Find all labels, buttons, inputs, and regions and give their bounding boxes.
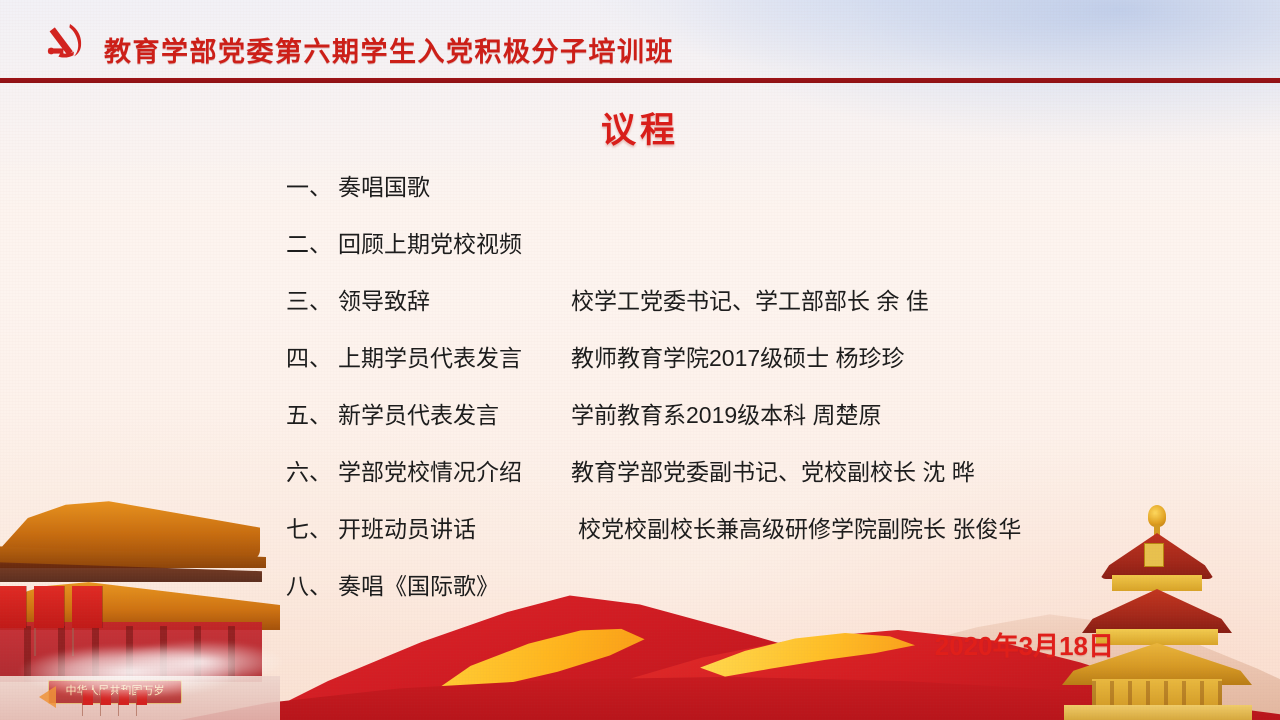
agenda-item-index: 四、 <box>286 339 338 373</box>
presentation-slide: 中华人民共和国万岁 教育学部党委第六期学生入 <box>0 0 1280 720</box>
agenda-item-topic: 奏唱《国际歌》 <box>338 567 588 601</box>
agenda-item-index: 二、 <box>286 225 338 259</box>
agenda-item-index: 八、 <box>286 567 338 601</box>
agenda-item: 二、 回顾上期党校视频 <box>286 225 1186 282</box>
agenda-item-topic: 回顾上期党校视频 <box>338 225 588 259</box>
agenda-item-speaker: 教育学部党委副书记、党校副校长 沈 晔 <box>571 453 975 487</box>
page-title: 教育学部党委第六期学生入党积极分子培训班 <box>104 30 674 69</box>
agenda-item: 六、 学部党校情况介绍 教育学部党委副书记、党校副校长 沈 晔 <box>286 453 1186 510</box>
agenda-item-index: 一、 <box>286 168 338 202</box>
agenda-item-topic: 上期学员代表发言 <box>338 339 571 373</box>
agenda-item-topic: 开班动员讲话 <box>338 510 578 544</box>
slide-date: 2020年3月18日 <box>935 626 1114 663</box>
slide-header: 教育学部党委第六期学生入党积极分子培训班 <box>0 0 1280 78</box>
agenda-item: 五、 新学员代表发言 学前教育系2019级本科 周楚原 <box>286 396 1186 453</box>
agenda-item-topic: 领导致辞 <box>338 282 571 316</box>
agenda-item-index: 三、 <box>286 282 338 316</box>
agenda-item: 三、 领导致辞 校学工党委书记、学工部部长 余 佳 <box>286 282 1186 339</box>
agenda-list: 一、 奏唱国歌 二、 回顾上期党校视频 三、 领导致辞 校学工党委书记、学工部部… <box>286 168 1186 624</box>
agenda-item-index: 五、 <box>286 396 338 430</box>
agenda-item-speaker: 校党校副校长兼高级研修学院副院长 张俊华 <box>578 510 1021 544</box>
agenda-item: 八、 奏唱《国际歌》 <box>286 567 1186 624</box>
agenda-item: 一、 奏唱国歌 <box>286 168 1186 225</box>
agenda-item-topic: 新学员代表发言 <box>338 396 571 430</box>
temple-deck-middle <box>1096 629 1218 645</box>
temple-terrace <box>1064 705 1252 720</box>
play-triangle-overlay[interactable] <box>32 682 62 712</box>
header-divider <box>0 78 1280 83</box>
agenda-item-speaker: 校学工党委书记、学工部部长 余 佳 <box>571 282 929 316</box>
agenda-item-speaker: 教师教育学院2017级硕士 杨珍珍 <box>571 339 905 373</box>
agenda-item: 四、 上期学员代表发言 教师教育学院2017级硕士 杨珍珍 <box>286 339 1186 396</box>
agenda-item-index: 七、 <box>286 510 338 544</box>
agenda-item-index: 六、 <box>286 453 338 487</box>
party-hammer-sickle-emblem-icon <box>40 21 88 61</box>
agenda-item-speaker: 学前教育系2019级本科 周楚原 <box>571 396 882 430</box>
tiananmen-mist-secondary <box>110 636 310 690</box>
agenda-item: 七、 开班动员讲话 校党校副校长兼高级研修学院副院长 张俊华 <box>286 510 1186 567</box>
agenda-item-topic: 奏唱国歌 <box>338 168 588 202</box>
play-icon <box>39 686 56 708</box>
agenda-item-topic: 学部党校情况介绍 <box>338 453 571 487</box>
agenda-heading: 议程 <box>0 102 1280 153</box>
